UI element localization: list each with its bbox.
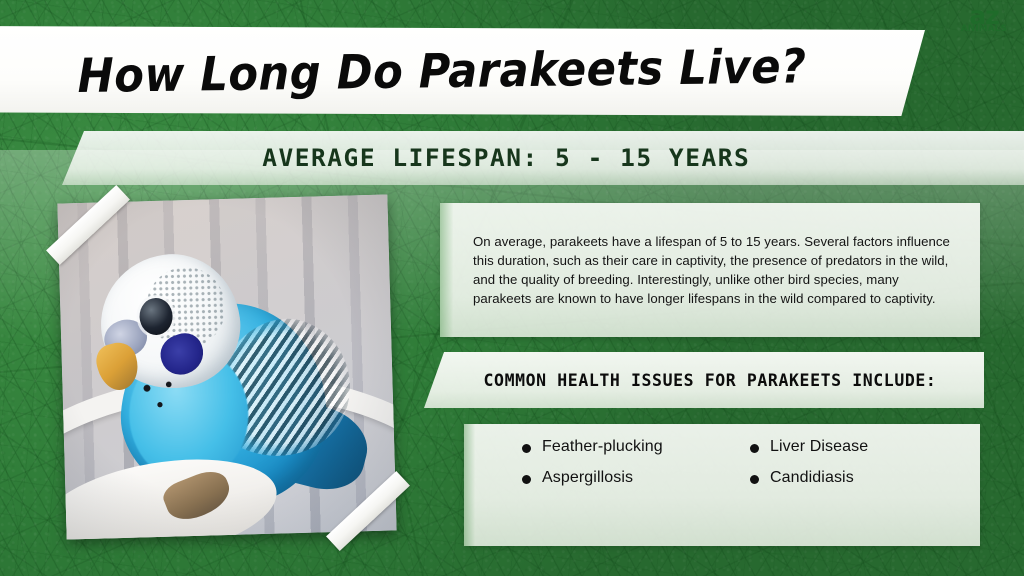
az-animals-logo[interactable]: az ANIMALS bbox=[956, 3, 1012, 39]
health-issues-list: Feather-plucking Liver Disease Aspergill… bbox=[522, 438, 962, 488]
subtitle-banner: AVERAGE LIFESPAN: 5 - 15 YEARS bbox=[62, 131, 1024, 185]
page-title: How Long Do Parakeets Live? bbox=[78, 39, 828, 104]
bullet-icon bbox=[522, 444, 531, 453]
logo-subtext: ANIMALS bbox=[956, 25, 1012, 34]
list-item-label: Feather-plucking bbox=[542, 438, 663, 457]
health-issues-heading: COMMON HEALTH ISSUES FOR PARAKEETS INCLU… bbox=[484, 371, 937, 390]
health-issues-header-banner: COMMON HEALTH ISSUES FOR PARAKEETS INCLU… bbox=[424, 352, 984, 408]
list-item: Liver Disease bbox=[750, 438, 962, 457]
list-item-label: Liver Disease bbox=[770, 438, 868, 457]
bullet-icon bbox=[522, 475, 531, 484]
health-issues-panel: Feather-plucking Liver Disease Aspergill… bbox=[464, 424, 980, 546]
list-item: Feather-plucking bbox=[522, 438, 734, 457]
subtitle-text: AVERAGE LIFESPAN: 5 - 15 YEARS bbox=[262, 144, 750, 172]
list-item-label: Aspergillosis bbox=[542, 469, 633, 488]
list-item-label: Candidiasis bbox=[770, 469, 854, 488]
bullet-icon bbox=[750, 444, 759, 453]
bullet-icon bbox=[750, 475, 759, 484]
photo-vignette bbox=[57, 194, 396, 539]
list-item: Aspergillosis bbox=[522, 469, 734, 488]
parakeet-photo bbox=[57, 194, 396, 539]
list-item: Candidiasis bbox=[750, 469, 962, 488]
title-banner: How Long Do Parakeets Live? bbox=[0, 26, 925, 116]
parakeet-photo-container bbox=[62, 199, 392, 535]
description-panel: On average, parakeets have a lifespan of… bbox=[440, 203, 980, 337]
description-text: On average, parakeets have a lifespan of… bbox=[440, 232, 980, 308]
